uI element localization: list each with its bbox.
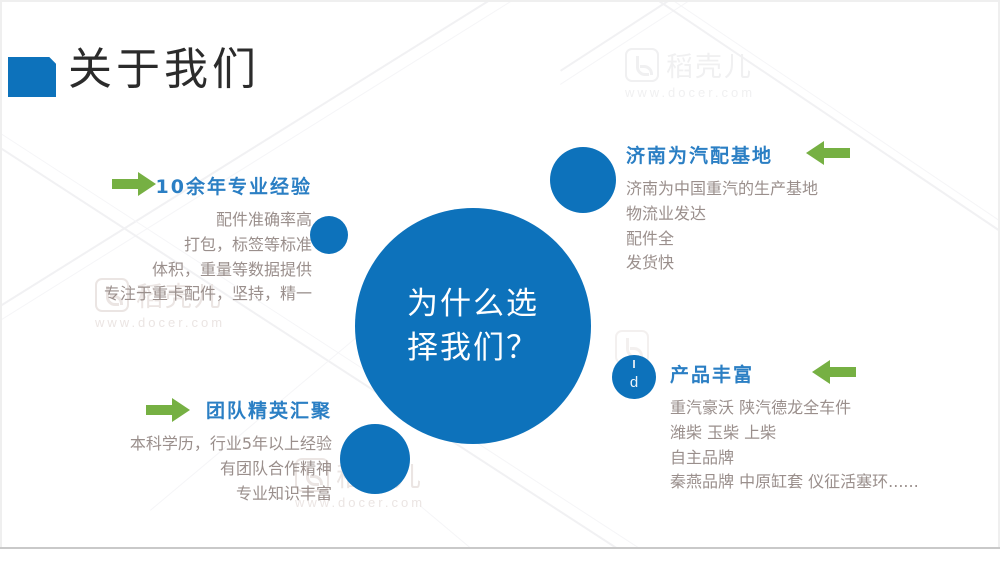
slide-canvas: 稻壳儿 www.docer.com 稻壳儿 www.docer.com 稻壳儿 … xyxy=(0,0,1000,561)
watermark-text-url: www.docer.com xyxy=(95,315,225,330)
block-base: 济南为汽配基地 济南为中国重汽的生产基地 物流业发达 配件全 发货快 xyxy=(626,141,976,276)
block-base-body: 济南为中国重汽的生产基地 物流业发达 配件全 发货快 xyxy=(626,177,976,276)
decorative-circle-bottom-left xyxy=(340,424,410,494)
list-item: 配件全 xyxy=(626,227,976,252)
block-products-body: 重汽豪沃 陕汽德龙全车件 潍柴 玉柴 上柴 自主品牌 秦燕品牌 中原缸套 仪征活… xyxy=(670,396,1000,495)
list-item: 潍柴 玉柴 上柴 xyxy=(670,421,1000,446)
watermark-text-url: www.docer.com xyxy=(625,85,755,100)
mini-circle-label: d xyxy=(612,374,656,391)
list-item: 专业知识丰富 xyxy=(0,482,332,507)
list-item: 济南为中国重汽的生产基地 xyxy=(626,177,976,202)
center-circle-line-2: 择我们？ xyxy=(388,326,558,370)
block-experience-heading: 10余年专业经验 xyxy=(0,172,340,199)
list-item: 自主品牌 xyxy=(670,446,1000,471)
list-item: 重汽豪沃 陕汽德龙全车件 xyxy=(670,396,1000,421)
list-item: 秦燕品牌 中原缸套 仪征活塞环...... xyxy=(670,470,1000,495)
decorative-circle-top-right xyxy=(550,147,616,213)
block-team-heading: 团队精英汇聚 xyxy=(0,396,340,423)
center-circle-line-1: 为什么选 xyxy=(388,282,558,326)
list-item: 配件准确率高 xyxy=(0,208,312,233)
slide-bottom-strip xyxy=(0,547,1000,561)
list-item: 物流业发达 xyxy=(626,202,976,227)
slide-edge-top xyxy=(0,0,1000,2)
list-item: 有团队合作精神 xyxy=(0,457,332,482)
list-item: 本科学历，行业5年以上经验 xyxy=(0,432,332,457)
mini-tick-mark xyxy=(633,360,635,368)
watermark-text-cn: 稻壳儿 xyxy=(666,45,753,84)
list-item: 发货快 xyxy=(626,251,976,276)
list-item: 打包，标签等标准 xyxy=(0,233,312,258)
block-base-heading: 济南为汽配基地 xyxy=(626,141,976,168)
block-experience: 10余年专业经验 配件准确率高 打包，标签等标准 体积，重量等数据提供 专注于重… xyxy=(0,172,340,307)
decorative-circle-mid-right: d xyxy=(612,355,656,399)
watermark-top-right: 稻壳儿 www.docer.com xyxy=(625,45,755,100)
block-team: 团队精英汇聚 本科学历，行业5年以上经验 有团队合作精神 专业知识丰富 xyxy=(0,396,340,506)
docer-leaf-logo-icon xyxy=(625,48,659,82)
center-circle: 为什么选 择我们？ xyxy=(355,208,591,444)
title-accent-shape xyxy=(8,57,56,97)
center-circle-text: 为什么选 择我们？ xyxy=(388,282,558,370)
list-item: 专注于重卡配件，坚持，精一 xyxy=(0,282,312,307)
page-title: 关于我们 xyxy=(68,45,260,96)
block-products-heading: 产品丰富 xyxy=(670,360,1000,387)
block-products: 产品丰富 重汽豪沃 陕汽德龙全车件 潍柴 玉柴 上柴 自主品牌 秦燕品牌 中原缸… xyxy=(670,360,1000,495)
list-item: 体积，重量等数据提供 xyxy=(0,258,312,283)
block-experience-body: 配件准确率高 打包，标签等标准 体积，重量等数据提供 专注于重卡配件，坚持，精一 xyxy=(0,208,340,307)
block-team-body: 本科学历，行业5年以上经验 有团队合作精神 专业知识丰富 xyxy=(0,432,340,506)
